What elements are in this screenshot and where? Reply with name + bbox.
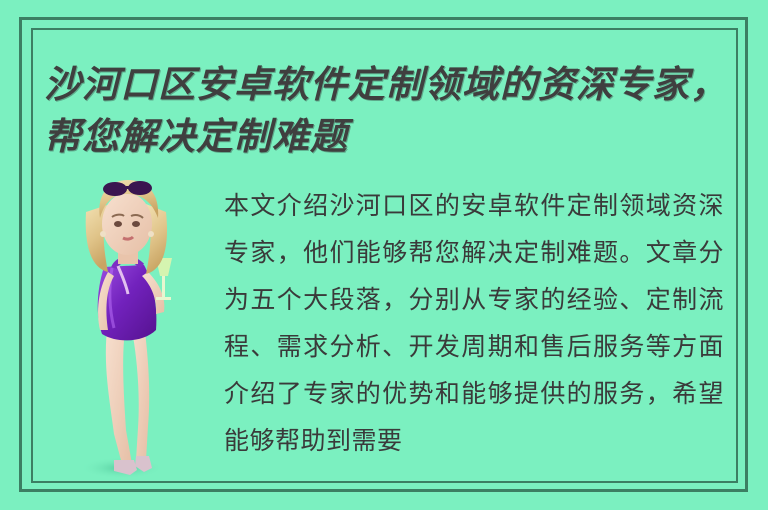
face bbox=[102, 193, 152, 255]
woman-illustration-graphic bbox=[52, 172, 202, 482]
champagne-glass-base bbox=[156, 297, 171, 300]
right-eye bbox=[132, 221, 140, 227]
page-title: 沙河口区安卓软件定制领域的资深专家，帮您解决定制难题 bbox=[44, 58, 734, 162]
body-paragraph: 本文介绍沙河口区的安卓软件定制领域资深专家，他们能够帮您解决定制难题。文章分为五… bbox=[224, 182, 724, 464]
woman-illustration bbox=[52, 172, 202, 482]
left-leg bbox=[106, 322, 132, 464]
right-leg bbox=[130, 320, 149, 460]
champagne-glass-stem bbox=[162, 276, 165, 298]
right-earring bbox=[148, 231, 154, 237]
poster-canvas: 沙河口区安卓软件定制领域的资深专家，帮您解决定制难题 bbox=[0, 0, 768, 510]
left-earring bbox=[100, 231, 106, 237]
left-eye bbox=[114, 221, 122, 227]
